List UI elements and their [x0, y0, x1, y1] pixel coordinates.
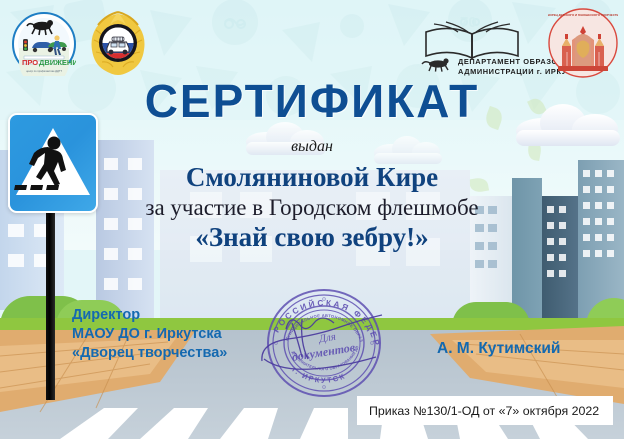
order-number-text: Приказ №130/1-ОД от «7» октября 2022: [369, 404, 599, 418]
recipient-name: Смоляниновой Кире: [0, 162, 624, 193]
event-name: «Знай свою зебру!»: [0, 222, 624, 253]
signer-position-line-3: «Дворец творчества»: [72, 344, 227, 363]
certificate-canvas: 70: [0, 0, 624, 439]
participation-reason: за участие в Городском флешмобе: [0, 195, 624, 221]
svg-text:центр по профилактике ДДТТ: центр по профилактике ДДТТ: [26, 69, 62, 73]
signer-position-line-1: Директор: [72, 306, 227, 325]
svg-text:ПРО: ПРО: [22, 58, 38, 67]
order-number-box: Приказ №130/1-ОД от «7» октября 2022: [357, 396, 613, 425]
page-title: СЕРТИФИКАТ: [0, 74, 624, 128]
palace-of-creativity-logo: ДВОРЕЦ ДЕТСКОГО И ЮНОШЕСКОГО ТВОРЧЕСТВА …: [548, 8, 618, 78]
official-stamp: РОССИЙСКАЯ ФЕДЕРАЦИЯ г. ИРКУТСК МУНИЦИПА…: [258, 283, 390, 403]
issued-label: выдан: [0, 138, 624, 156]
gibdd-emblem: [88, 10, 148, 76]
svg-text:ДВИЖЕНИЕ: ДВИЖЕНИЕ: [39, 58, 76, 67]
svg-text:ДВОРЕЦ ДЕТСКОГО И ЮНОШЕСКОГО Т: ДВОРЕЦ ДЕТСКОГО И ЮНОШЕСКОГО ТВОРЧЕСТВА: [548, 13, 618, 17]
signer-name: А. М. Кутимский: [437, 340, 560, 358]
signer-position-block: Директор МАОУ ДО г. Иркутска «Дворец тво…: [72, 306, 227, 363]
signer-position-line-2: МАОУ ДО г. Иркутска: [72, 325, 227, 344]
prodvizhenie-logo: ПРО ДВИЖЕНИЕ центр по профилактике ДДТТ: [12, 12, 76, 76]
svg-text:ДВОРЕЦ ДЕТСКОГО И ЮНОШЕСКОГО Т: ДВОРЕЦ ДЕТСКОГО И ЮНОШЕСКОГО ТВОРЧЕСТВА: [548, 8, 550, 9]
